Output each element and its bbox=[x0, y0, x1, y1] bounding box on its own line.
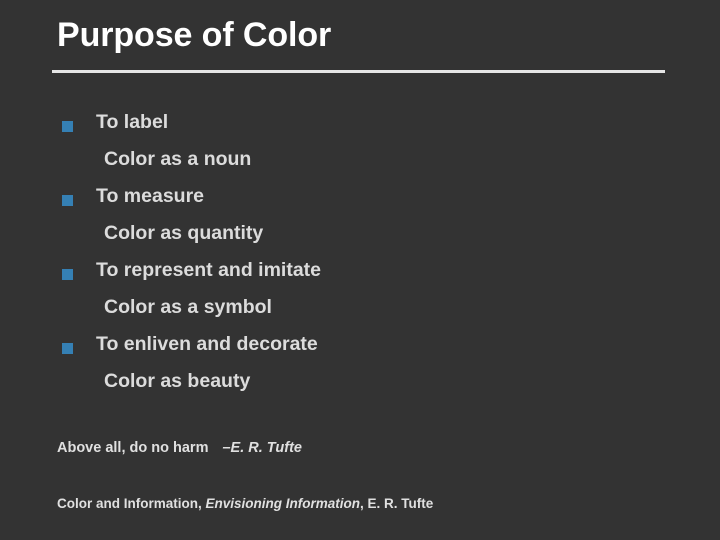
quote-attribution: –E. R. Tufte bbox=[222, 440, 302, 456]
page-title: Purpose of Color bbox=[57, 17, 331, 54]
bullet-main-label: To represent and imitate bbox=[96, 256, 321, 284]
bullet-main-label: To label bbox=[96, 108, 168, 136]
bullet-sub-label: Color as a noun bbox=[104, 145, 251, 173]
quote: Above all, do no harm–E. R. Tufte bbox=[57, 440, 302, 456]
square-bullet-icon bbox=[62, 269, 73, 280]
bullet-subrow: Color as quantity bbox=[0, 219, 720, 256]
bullet-group: To label Color as a noun bbox=[0, 108, 720, 182]
source-citation: Color and Information, Envisioning Infor… bbox=[57, 496, 433, 511]
bullet-subrow: Color as beauty bbox=[0, 367, 720, 404]
bullet-group: To represent and imitate Color as a symb… bbox=[0, 256, 720, 330]
bullet-subrow: Color as a noun bbox=[0, 145, 720, 182]
bullet-main-label: To enliven and decorate bbox=[96, 330, 318, 358]
bullet-row: To represent and imitate bbox=[0, 256, 720, 293]
bullet-sub-label: Color as quantity bbox=[104, 219, 263, 247]
bullet-group: To enliven and decorate Color as beauty bbox=[0, 330, 720, 404]
bullet-list: To label Color as a noun To measure Colo… bbox=[0, 108, 720, 404]
square-bullet-icon bbox=[62, 121, 73, 132]
slide: Purpose of Color To label Color as a nou… bbox=[0, 0, 720, 540]
title-divider bbox=[52, 70, 665, 73]
bullet-sub-label: Color as a symbol bbox=[104, 293, 272, 321]
bullet-row: To enliven and decorate bbox=[0, 330, 720, 367]
citation-prefix: Color and Information, bbox=[57, 496, 206, 511]
square-bullet-icon bbox=[62, 343, 73, 354]
bullet-row: To label bbox=[0, 108, 720, 145]
bullet-subrow: Color as a symbol bbox=[0, 293, 720, 330]
bullet-main-label: To measure bbox=[96, 182, 204, 210]
bullet-sub-label: Color as beauty bbox=[104, 367, 250, 395]
square-bullet-icon bbox=[62, 195, 73, 206]
quote-text: Above all, do no harm bbox=[57, 440, 208, 456]
bullet-row: To measure bbox=[0, 182, 720, 219]
bullet-group: To measure Color as quantity bbox=[0, 182, 720, 256]
citation-suffix: , E. R. Tufte bbox=[360, 496, 433, 511]
citation-book-title: Envisioning Information bbox=[206, 496, 361, 511]
